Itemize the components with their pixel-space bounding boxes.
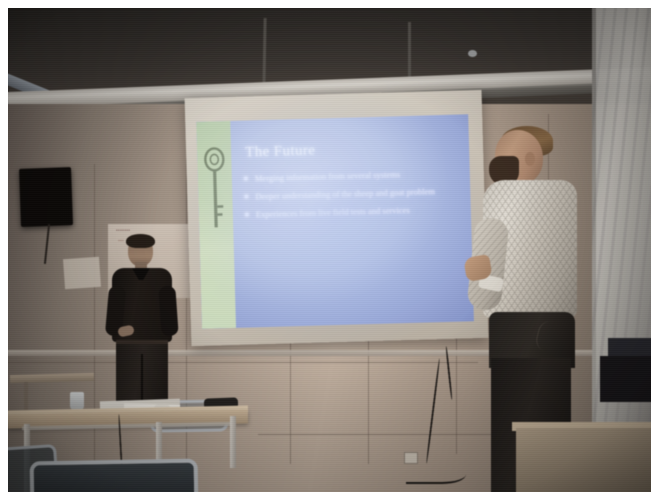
slide-bullet-item: Deeper understanding of the sheep and go… xyxy=(244,184,462,202)
curtain-edge xyxy=(592,8,596,428)
slide-title: The Future xyxy=(245,143,316,162)
wall-panel-seam xyxy=(258,434,498,435)
wall-paper-note xyxy=(63,257,101,289)
projected-slide: The Future Merging information from seve… xyxy=(196,114,474,329)
wall-panel-seam xyxy=(8,362,478,363)
table-leg xyxy=(230,416,236,468)
projection-screen: The Future Merging information from seve… xyxy=(185,90,489,346)
drinking-glass xyxy=(70,392,84,410)
wall-mounted-monitor xyxy=(19,167,73,227)
outlet-cable xyxy=(406,460,466,484)
person-left-man xyxy=(104,236,182,404)
key-ornament-icon xyxy=(201,143,230,240)
slide-bullet-item: Merging information from several systems xyxy=(244,166,462,184)
right-desk xyxy=(516,428,651,492)
slide-sidebar xyxy=(196,121,236,329)
slide-bullet-list: Merging information from several systems… xyxy=(244,166,463,226)
left-man-hair xyxy=(126,234,155,248)
ceiling-spot-light xyxy=(468,50,477,57)
left-man-leg-seam xyxy=(141,354,143,404)
photo-frame: ••••••• •••• The Future Merging informa xyxy=(0,0,659,500)
presenter-ear xyxy=(525,152,535,166)
photograph: ••••••• •••• The Future Merging informa xyxy=(8,8,651,492)
ceiling-hanger-rod xyxy=(262,18,266,90)
poster-title-text: ••••••• xyxy=(116,229,130,234)
left-man-arm xyxy=(158,285,178,336)
slide-bullet-item: Experiences from live field tests and se… xyxy=(245,202,463,220)
foreground-chair xyxy=(30,459,199,492)
right-monitor xyxy=(600,356,651,402)
